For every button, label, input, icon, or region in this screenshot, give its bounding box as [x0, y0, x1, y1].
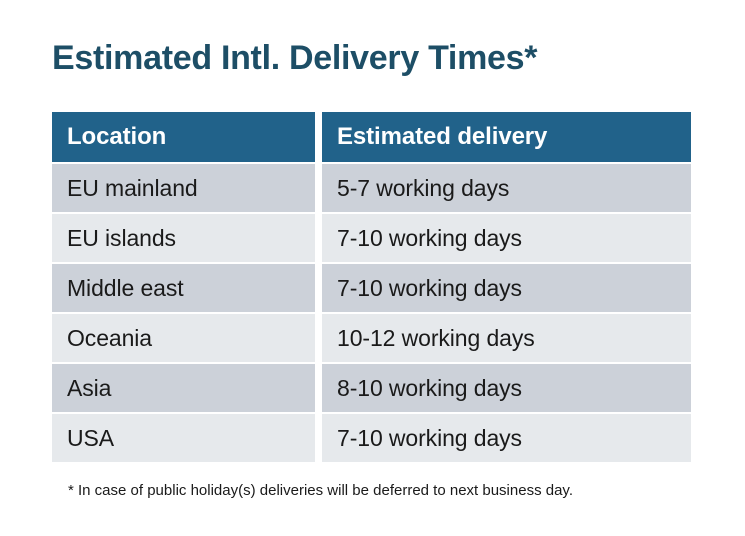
table-row: EU mainland 5-7 working days	[52, 164, 691, 212]
column-header-location: Location	[52, 112, 315, 162]
cell-estimated-delivery: 7-10 working days	[322, 414, 691, 462]
table-header-row: Location Estimated delivery	[52, 112, 691, 162]
cell-location: USA	[52, 414, 315, 462]
page-title: Estimated Intl. Delivery Times*	[52, 36, 537, 80]
footnote-text: * In case of public holiday(s) deliverie…	[68, 481, 573, 501]
cell-location: EU mainland	[52, 164, 315, 212]
cell-estimated-delivery: 7-10 working days	[322, 214, 691, 262]
delivery-times-page: Estimated Intl. Delivery Times* Location…	[0, 0, 745, 536]
table-row: Middle east 7-10 working days	[52, 264, 691, 312]
column-header-estimated-delivery: Estimated delivery	[322, 112, 691, 162]
cell-location: Oceania	[52, 314, 315, 362]
cell-location: Middle east	[52, 264, 315, 312]
table-row: EU islands 7-10 working days	[52, 214, 691, 262]
table-row: Oceania 10-12 working days	[52, 314, 691, 362]
table-row: Asia 8-10 working days	[52, 364, 691, 412]
cell-location: Asia	[52, 364, 315, 412]
cell-location: EU islands	[52, 214, 315, 262]
cell-estimated-delivery: 8-10 working days	[322, 364, 691, 412]
estimated-delivery-times-table: Location Estimated delivery EU mainland …	[52, 112, 691, 462]
table-row: USA 7-10 working days	[52, 414, 691, 462]
cell-estimated-delivery: 7-10 working days	[322, 264, 691, 312]
cell-estimated-delivery: 5-7 working days	[322, 164, 691, 212]
cell-estimated-delivery: 10-12 working days	[322, 314, 691, 362]
